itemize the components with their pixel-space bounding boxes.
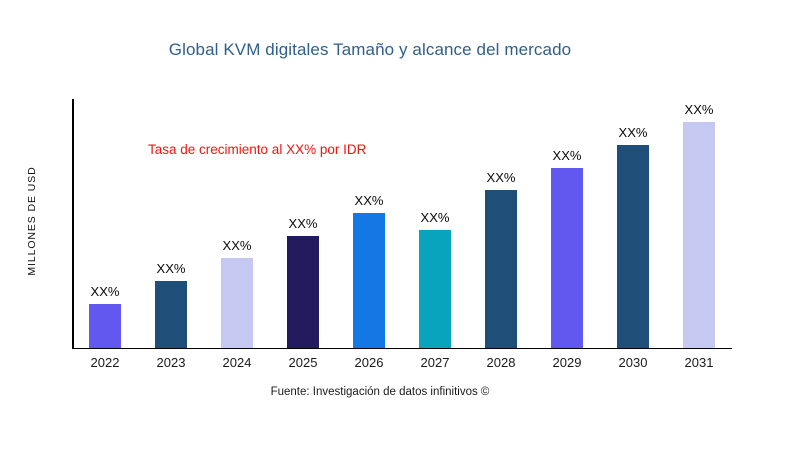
x-tick-2022: 2022 bbox=[91, 355, 120, 370]
x-tick-2025: 2025 bbox=[289, 355, 318, 370]
bar-value-label: XX% bbox=[289, 216, 318, 231]
bar-2031[interactable]: XX% bbox=[683, 122, 715, 348]
x-tick-2031: 2031 bbox=[685, 355, 714, 370]
bar-value-label: XX% bbox=[91, 284, 120, 299]
chart-title: Global KVM digitales Tamaño y alcance de… bbox=[0, 40, 740, 60]
bar-2022[interactable]: XX% bbox=[89, 304, 121, 348]
bar-value-label: XX% bbox=[553, 148, 582, 163]
bar-2024[interactable]: XX% bbox=[221, 258, 253, 348]
bar-2029[interactable]: XX% bbox=[551, 168, 583, 348]
bar-value-label: XX% bbox=[487, 170, 516, 185]
y-axis-label: MILLONES DE USD bbox=[26, 121, 38, 321]
source-caption: Fuente: Investigación de datos infinitiv… bbox=[0, 386, 760, 398]
x-tick-2028: 2028 bbox=[487, 355, 516, 370]
bar-2028[interactable]: XX% bbox=[485, 190, 517, 348]
bar-value-label: XX% bbox=[157, 261, 186, 276]
bar-value-label: XX% bbox=[223, 238, 252, 253]
bar-value-label: XX% bbox=[619, 125, 648, 140]
x-tick-2030: 2030 bbox=[619, 355, 648, 370]
x-tick-2029: 2029 bbox=[553, 355, 582, 370]
bar-value-label: XX% bbox=[421, 210, 450, 225]
x-tick-2026: 2026 bbox=[355, 355, 384, 370]
x-axis-line bbox=[72, 348, 732, 350]
bar-2025[interactable]: XX% bbox=[287, 236, 319, 348]
bar-2027[interactable]: XX% bbox=[419, 230, 451, 348]
bar-2026[interactable]: XX% bbox=[353, 213, 385, 348]
chart-container: Global KVM digitales Tamaño y alcance de… bbox=[0, 0, 800, 450]
bar-2030[interactable]: XX% bbox=[617, 145, 649, 348]
x-tick-2024: 2024 bbox=[223, 355, 252, 370]
bar-value-label: XX% bbox=[355, 193, 384, 208]
plot-area: XX%XX%XX%XX%XX%XX%XX%XX%XX%XX% bbox=[72, 99, 732, 349]
x-tick-2023: 2023 bbox=[157, 355, 186, 370]
x-tick-2027: 2027 bbox=[421, 355, 450, 370]
bar-value-label: XX% bbox=[685, 102, 714, 117]
y-axis-line bbox=[72, 99, 74, 349]
bar-2023[interactable]: XX% bbox=[155, 281, 187, 348]
